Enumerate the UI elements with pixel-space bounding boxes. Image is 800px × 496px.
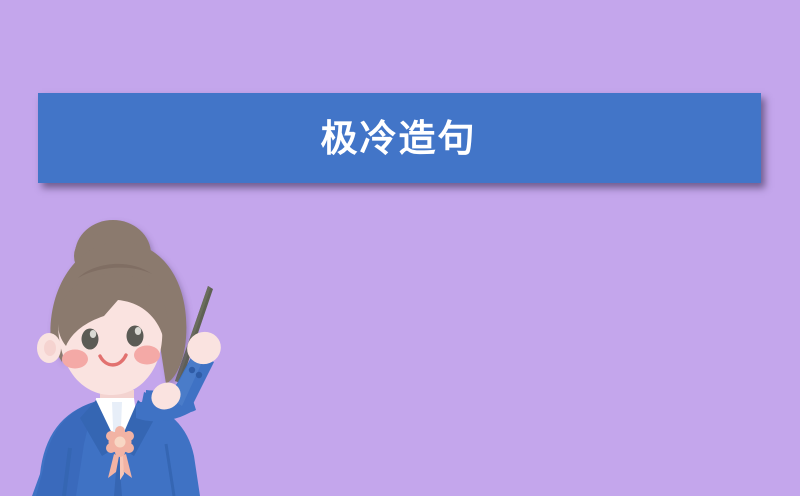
teacher-illustration (18, 212, 248, 496)
page-root: 极冷造句 (0, 0, 800, 496)
title-banner: 极冷造句 (38, 93, 761, 183)
left-eye-icon (82, 329, 99, 350)
page-title: 极冷造句 (321, 120, 477, 157)
right-blush (134, 346, 160, 365)
left-blush (62, 350, 88, 369)
right-eye-icon (127, 326, 144, 347)
ear-inner (44, 340, 56, 356)
